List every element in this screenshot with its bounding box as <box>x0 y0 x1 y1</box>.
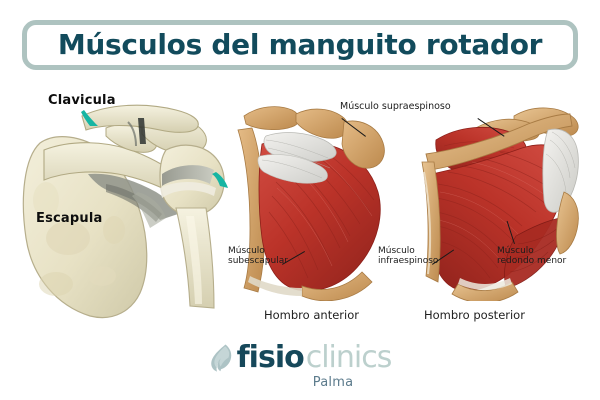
logo-row: fisioclinics <box>209 343 392 373</box>
label-subescapular: Músculo subescapular <box>228 246 288 266</box>
anterior-shoulder-illustration <box>232 96 397 301</box>
brand-logo[interactable]: fisioclinics Palma <box>0 343 600 400</box>
shoulder-skeleton-illustration <box>10 88 235 323</box>
caption-hombro-posterior: Hombro posterior <box>424 308 525 322</box>
anatomy-figure-area: Clavicula Escapula <box>0 78 600 338</box>
label-escapula: Escapula <box>36 212 103 227</box>
label-redondo-menor: Músculo redondo menor <box>497 246 566 266</box>
logo-subtitle: Palma <box>313 375 353 390</box>
logo-word-clinics: clinics <box>306 343 392 373</box>
caption-hombro-anterior: Hombro anterior <box>264 308 359 322</box>
page-title: Músculos del manguito rotador <box>58 31 542 59</box>
leaf-flame-icon <box>209 343 235 373</box>
title-banner: Músculos del manguito rotador <box>22 20 578 70</box>
logo-word-fisio: fisio <box>237 343 304 373</box>
label-supraespinoso: Músculo supraespinoso <box>340 102 451 113</box>
posterior-shoulder-illustration <box>418 96 583 301</box>
label-clavicula: Clavicula <box>48 94 116 109</box>
label-infraespinoso: Músculo infraespinoso <box>378 246 438 266</box>
clavicle-strip <box>244 107 299 130</box>
infographic-page: Músculos del manguito rotador <box>0 0 600 400</box>
